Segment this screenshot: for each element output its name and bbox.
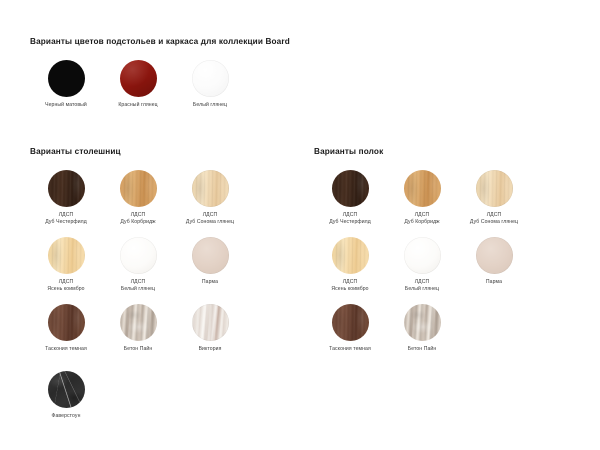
color-swatch[interactable]: ЛДСПЯсень коимбро xyxy=(314,237,386,304)
swatch-label-secondary: Дуб Честерфилд xyxy=(329,219,371,226)
swatch-label-primary: ЛДСП xyxy=(405,279,439,286)
swatch-disc-icon xyxy=(120,60,157,97)
color-swatch[interactable]: ЛДСПДуб Честерфилд xyxy=(30,170,102,237)
swatch-caption: Парма xyxy=(486,279,502,286)
color-swatch[interactable]: Бетон Пайн xyxy=(386,304,458,371)
swatch-grid-row: ЛДСПЯсень коимброЛДСПБелый глянецПарма xyxy=(30,237,246,304)
swatch-label-primary: Парма xyxy=(486,279,502,286)
swatch-label-secondary: Дуб Корбридж xyxy=(120,219,155,226)
swatch-label-primary: ЛДСП xyxy=(120,212,155,219)
swatch-caption: Черный матовый xyxy=(45,102,87,109)
swatch-disc-icon xyxy=(120,304,157,341)
swatch-caption: Бетон Пайн xyxy=(124,346,153,353)
color-swatch[interactable]: ЛДСПБелый глянец xyxy=(102,237,174,304)
swatch-disc-icon xyxy=(120,237,157,274)
swatch-caption: Таскония темная xyxy=(329,346,371,353)
swatch-disc-icon xyxy=(48,371,85,408)
swatch-caption: ЛДСПБелый глянец xyxy=(121,279,155,293)
swatch-disc-icon xyxy=(476,170,513,207)
color-swatch[interactable]: ЛДСПДуб Корбридж xyxy=(386,170,458,237)
swatch-caption: ЛДСПДуб Сонома глянец xyxy=(186,212,234,226)
swatch-label-secondary: Дуб Сонома глянец xyxy=(470,219,518,226)
swatch-grid-row: ЛДСПДуб ЧестерфилдЛДСПДуб КорбриджЛДСПДу… xyxy=(30,170,246,237)
swatch-caption: Красный глянец xyxy=(118,102,157,109)
color-swatch[interactable]: Бетон Пайн xyxy=(102,304,174,371)
swatch-label-primary: Белый глянец xyxy=(193,102,227,109)
tabletops-swatch-grid: ЛДСПДуб ЧестерфилдЛДСПДуб КорбриджЛДСПДу… xyxy=(30,170,246,438)
color-swatch[interactable]: ЛДСПДуб Сонома глянец xyxy=(458,170,530,237)
color-swatch[interactable]: Фаверстоун xyxy=(30,371,102,438)
swatch-caption: ЛДСПДуб Честерфилд xyxy=(329,212,371,226)
swatch-label-primary: Таскония темная xyxy=(45,346,87,353)
color-swatch[interactable]: ЛДСПДуб Сонома глянец xyxy=(174,170,246,237)
color-swatch[interactable]: ЛДСПДуб Корбридж xyxy=(102,170,174,237)
swatch-caption: ЛДСПБелый глянец xyxy=(405,279,439,293)
swatch-disc-icon xyxy=(332,304,369,341)
swatch-caption: Парма xyxy=(202,279,218,286)
swatch-caption: ЛДСПЯсень коимбро xyxy=(331,279,368,293)
swatch-disc-icon xyxy=(476,237,513,274)
swatch-label-secondary: Ясень коимбро xyxy=(47,286,84,293)
swatch-grid-row: ЛДСПДуб ЧестерфилдЛДСПДуб КорбриджЛДСПДу… xyxy=(314,170,530,237)
swatch-caption: ЛДСПДуб Честерфилд xyxy=(45,212,87,226)
swatch-label-secondary: Дуб Корбридж xyxy=(404,219,439,226)
swatch-caption: Виктория xyxy=(199,346,222,353)
swatch-label-primary: ЛДСП xyxy=(470,212,518,219)
swatch-label-primary: Бетон Пайн xyxy=(408,346,437,353)
shelves-section-title: Варианты полок xyxy=(314,147,383,156)
color-swatch[interactable]: ЛДСПДуб Честерфилд xyxy=(314,170,386,237)
swatch-disc-icon xyxy=(192,237,229,274)
swatch-caption: Бетон Пайн xyxy=(408,346,437,353)
color-swatch[interactable]: Парма xyxy=(174,237,246,304)
swatch-label-primary: Бетон Пайн xyxy=(124,346,153,353)
swatch-label-primary: ЛДСП xyxy=(329,212,371,219)
swatch-label-primary: ЛДСП xyxy=(47,279,84,286)
swatch-grid-row: ЛДСПЯсень коимброЛДСПБелый глянецПарма xyxy=(314,237,530,304)
swatch-label-primary: Черный матовый xyxy=(45,102,87,109)
swatch-label-primary: Красный глянец xyxy=(118,102,157,109)
swatch-label-secondary: Белый глянец xyxy=(121,286,155,293)
swatch-disc-icon xyxy=(192,304,229,341)
swatch-label-primary: ЛДСП xyxy=(331,279,368,286)
swatch-label-primary: ЛДСП xyxy=(404,212,439,219)
swatch-disc-icon xyxy=(404,237,441,274)
swatch-disc-icon xyxy=(332,170,369,207)
color-swatch[interactable]: Черный матовый xyxy=(30,60,102,109)
swatch-caption: ЛДСПДуб Корбридж xyxy=(404,212,439,226)
color-swatch[interactable]: ЛДСПБелый глянец xyxy=(386,237,458,304)
color-swatch[interactable]: Виктория xyxy=(174,304,246,371)
swatch-disc-icon xyxy=(192,170,229,207)
swatch-label-secondary: Белый глянец xyxy=(405,286,439,293)
swatch-disc-icon xyxy=(48,170,85,207)
color-swatch[interactable]: Парма xyxy=(458,237,530,304)
swatch-grid-row: Таскония темнаяБетон ПайнВиктория xyxy=(30,304,246,371)
swatch-disc-icon xyxy=(404,304,441,341)
swatch-disc-icon xyxy=(120,170,157,207)
swatch-label-primary: ЛДСП xyxy=(45,212,87,219)
base-colors-section-title: Варианты цветов подстольев и каркаса для… xyxy=(30,37,290,46)
swatch-caption: ЛДСПДуб Сонома глянец xyxy=(470,212,518,226)
swatch-caption: Белый глянец xyxy=(193,102,227,109)
shelves-swatch-grid: ЛДСПДуб ЧестерфилдЛДСПДуб КорбриджЛДСПДу… xyxy=(314,170,530,371)
base-colors-swatch-row: Черный матовыйКрасный глянецБелый глянец xyxy=(30,60,246,109)
swatch-label-secondary: Дуб Честерфилд xyxy=(45,219,87,226)
swatch-label-primary: Виктория xyxy=(199,346,222,353)
swatch-disc-icon xyxy=(404,170,441,207)
swatch-disc-icon xyxy=(332,237,369,274)
swatch-grid-row: Фаверстоун xyxy=(30,371,246,438)
swatch-label-secondary: Ясень коимбро xyxy=(331,286,368,293)
swatch-label-secondary: Дуб Сонома глянец xyxy=(186,219,234,226)
swatch-caption: Таскония темная xyxy=(45,346,87,353)
color-options-catalog-page: Варианты цветов подстольев и каркаса для… xyxy=(0,0,600,450)
swatch-label-primary: Фаверстоун xyxy=(52,413,81,420)
swatch-caption: ЛДСПДуб Корбридж xyxy=(120,212,155,226)
color-swatch[interactable]: Белый глянец xyxy=(174,60,246,109)
swatch-label-primary: ЛДСП xyxy=(121,279,155,286)
tabletops-section-title: Варианты столешниц xyxy=(30,147,121,156)
color-swatch[interactable]: Таскония темная xyxy=(314,304,386,371)
swatch-caption: Фаверстоун xyxy=(52,413,81,420)
color-swatch[interactable]: Таскония темная xyxy=(30,304,102,371)
color-swatch[interactable]: Красный глянец xyxy=(102,60,174,109)
swatch-disc-icon xyxy=(48,237,85,274)
swatch-caption: ЛДСПЯсень коимбро xyxy=(47,279,84,293)
swatch-grid-row: Таскония темнаяБетон Пайн xyxy=(314,304,530,371)
color-swatch[interactable]: ЛДСПЯсень коимбро xyxy=(30,237,102,304)
swatch-disc-icon xyxy=(48,304,85,341)
swatch-label-primary: Таскония темная xyxy=(329,346,371,353)
swatch-label-primary: ЛДСП xyxy=(186,212,234,219)
swatch-label-primary: Парма xyxy=(202,279,218,286)
swatch-disc-icon xyxy=(192,60,229,97)
swatch-disc-icon xyxy=(48,60,85,97)
